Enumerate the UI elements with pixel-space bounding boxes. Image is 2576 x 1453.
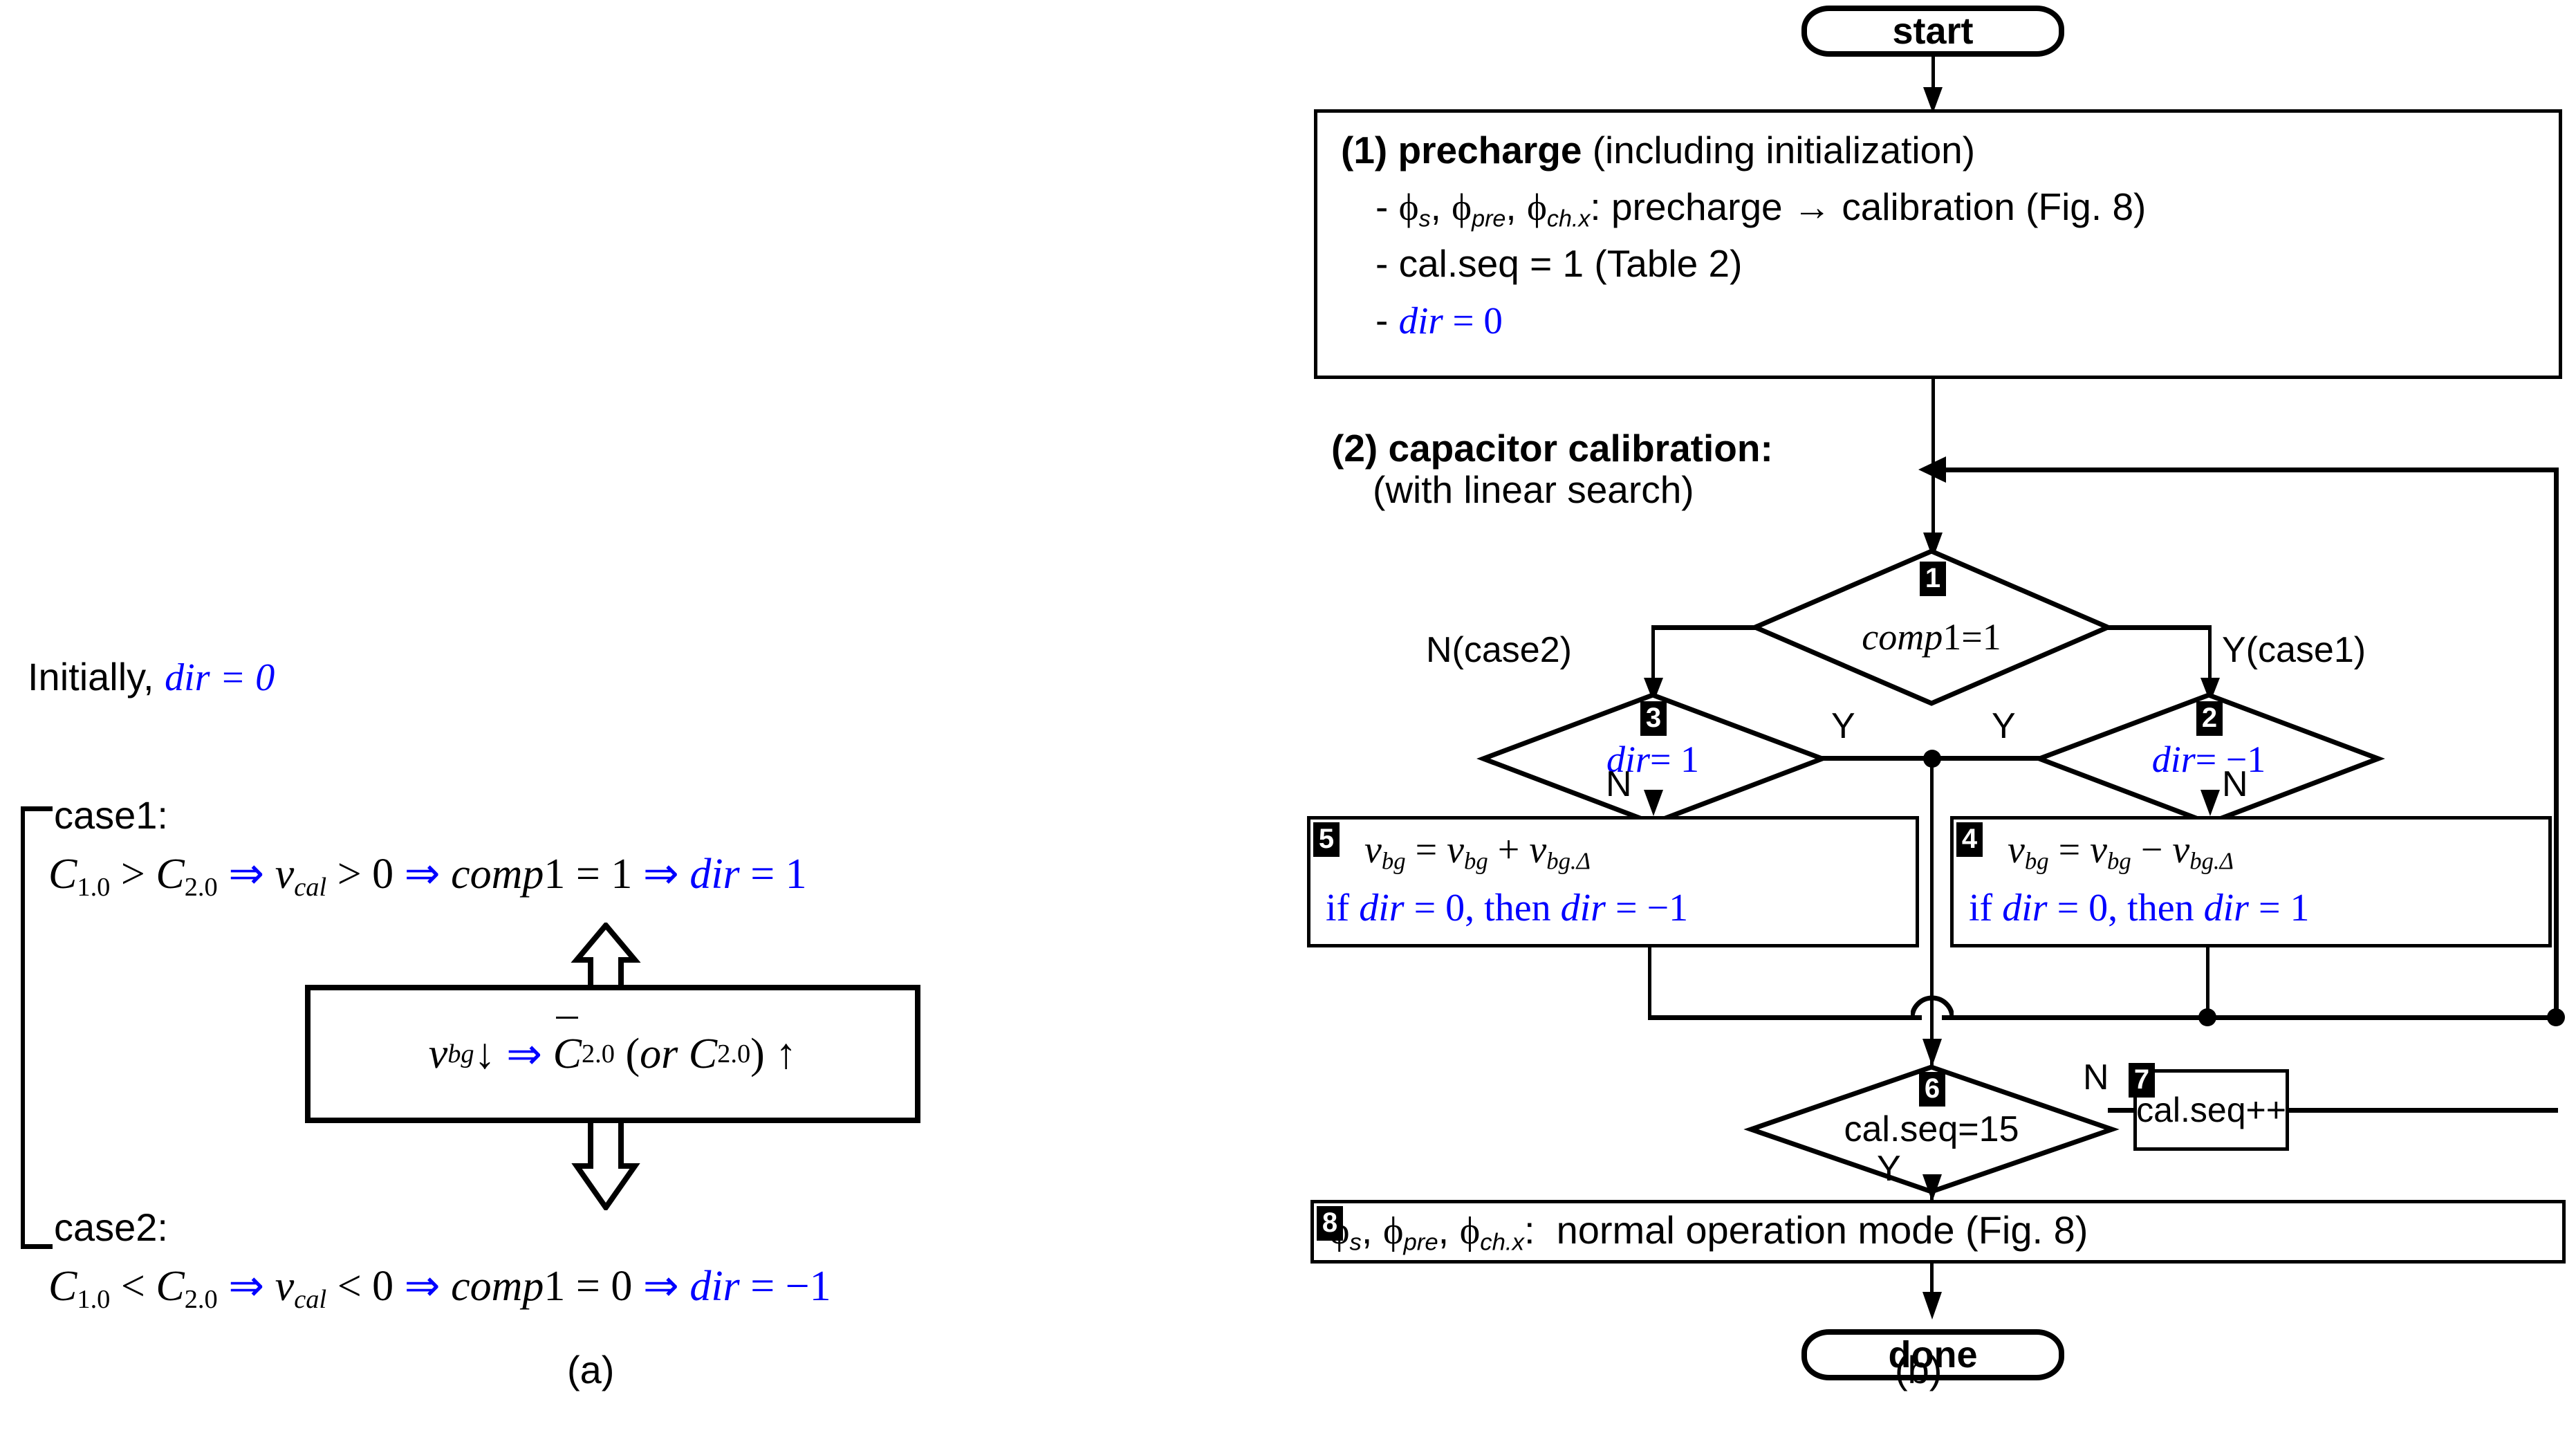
- initial-condition-line: Initially, dir = 0: [28, 654, 275, 700]
- box7-label: cal.seq++: [2137, 1073, 2286, 1147]
- figure-root: Initially, dir = 0 case1: C1.0 > C2.0 ⇒ …: [0, 0, 2576, 1453]
- box4-step-badge: 4: [1956, 822, 1983, 857]
- wire-d1-to-d2-horizontal: [2102, 625, 2212, 630]
- section2-subtitle: (with linear search): [1373, 468, 1694, 512]
- precharge-dir-bullet: -: [1375, 299, 1399, 342]
- wire-d3-yes-to-trunk: [1817, 756, 1935, 761]
- start-label: start: [1892, 10, 1973, 53]
- box4-line2: if dir = 0, then dir = 1: [1969, 886, 2310, 930]
- box5-line2: if dir = 0, then dir = −1: [1326, 886, 1688, 930]
- box7-step-badge: 7: [2129, 1063, 2155, 1098]
- case1-label: case1:: [54, 793, 168, 837]
- wire-trunk-yes-to-bottom: [1930, 758, 1934, 1017]
- case2-label: case2:: [54, 1205, 168, 1250]
- arrowhead-into-done: [1920, 1292, 1944, 1321]
- case2-equation: C1.0 < C2.0 ⇒ vcal < 0 ⇒ comp1 = 0 ⇒ dir…: [48, 1260, 831, 1315]
- edge-label-d2-no: N: [2222, 763, 2248, 805]
- edge-label-d6-yes: Y: [1877, 1148, 1901, 1190]
- box8-step-badge: 8: [1317, 1206, 1343, 1241]
- section2-title: (2) capacitor calibration:: [1331, 426, 1773, 470]
- precharge-heading: (1) precharge (including initialization): [1341, 128, 1975, 172]
- precharge-line-clocks: - ϕs, ϕpre, ϕch.x: precharge → calibrati…: [1375, 185, 2146, 233]
- thick-down-arrow-icon: [557, 1120, 654, 1214]
- box5-step-badge: 5: [1313, 822, 1340, 857]
- edge-label-d1-yes: Y(case1): [2222, 629, 2366, 671]
- node-box4-vbg-decrease: vbg = vbg − vbg.Δ if dir = 0, then dir =…: [1950, 816, 2552, 947]
- wire-merge-bus-right: [1942, 1015, 2557, 1020]
- initial-dir-value: dir = 0: [165, 656, 275, 699]
- wire-feedback-top-horizontal: [1934, 468, 2557, 472]
- junction-dot-bus-riser: [2547, 1008, 2565, 1026]
- case-bracket-vertical: [21, 806, 25, 1249]
- d1-step-badge: 1: [1920, 562, 1946, 596]
- wire-box5-exit-to-bus: [1648, 1015, 1922, 1020]
- panel-b-caption: (b): [1895, 1347, 1942, 1392]
- edge-label-d3-no: N: [1606, 763, 1632, 805]
- start-terminator: start: [1801, 6, 2064, 57]
- wire-box4-exit-vertical: [2206, 947, 2209, 1017]
- wire-box5-exit-vertical: [1648, 947, 1651, 1017]
- node-box5-vbg-increase: vbg = vbg + vbg.Δ if dir = 0, then dir =…: [1307, 816, 1919, 947]
- precharge-line-calseq: - cal.seq = 1 (Table 2): [1375, 241, 1742, 286]
- wire-d1-to-d3-horizontal: [1651, 625, 1761, 630]
- arrowhead-into-box5: [1642, 790, 1665, 817]
- panel-a-caption: (a): [567, 1347, 614, 1392]
- edge-label-d2-yes: Y: [1992, 705, 2016, 747]
- node-d1-comp1: comp1=1 1: [1752, 548, 2111, 707]
- wire-box7-to-riser: [2287, 1108, 2558, 1113]
- node-precharge-box: (1) precharge (including initialization)…: [1314, 109, 2562, 379]
- precharge-line-dir: - dir = 0: [1375, 298, 1503, 342]
- d6-step-badge: 6: [1919, 1072, 1945, 1107]
- edge-label-d6-no: N: [2083, 1057, 2109, 1098]
- arrowhead-into-box8: [1920, 1174, 1944, 1203]
- box5-line1: vbg = vbg + vbg.Δ: [1364, 828, 1591, 876]
- box4-line1: vbg = vbg − vbg.Δ: [2008, 828, 2234, 876]
- junction-dot-box4-bus: [2198, 1008, 2216, 1026]
- d3-step-badge: 3: [1640, 701, 1667, 736]
- edge-label-d3-yes: Y: [1831, 705, 1855, 747]
- node-box8-normal-operation: ϕs, ϕpre, ϕch.x: normal operation mode (…: [1310, 1200, 2566, 1264]
- arrowhead-feedback-into-trunk: [1917, 455, 1947, 484]
- vbg-implication-text: vbg ↓ ⇒ C2.0 (or C2.0) ↑: [311, 990, 915, 1118]
- precharge-heading-bold: (1) precharge: [1341, 129, 1582, 172]
- wire-d2-yes-to-trunk: [1931, 756, 2046, 761]
- case-bracket-top-tick: [21, 806, 53, 811]
- wire-feedback-riser: [2554, 468, 2559, 1018]
- case1-equation: C1.0 > C2.0 ⇒ vcal > 0 ⇒ comp1 = 1 ⇒ dir…: [48, 848, 807, 903]
- initial-prefix: Initially,: [28, 655, 165, 698]
- edge-label-d1-no: N(case2): [1426, 629, 1572, 671]
- vbg-implication-box: vbg ↓ ⇒ C2.0 (or C2.0) ↑: [305, 985, 920, 1123]
- node-box7-calseq-increment: cal.seq++: [2133, 1069, 2289, 1151]
- precharge-heading-rest: (including initialization): [1582, 129, 1975, 172]
- box8-label: ϕs, ϕpre, ϕch.x: normal operation mode (…: [1329, 1207, 2088, 1257]
- case-bracket-bottom-tick: [21, 1244, 53, 1249]
- d2-step-badge: 2: [2196, 701, 2223, 736]
- precharge-dir-value: dir = 0: [1399, 299, 1503, 342]
- arrowhead-into-box4: [2198, 790, 2222, 817]
